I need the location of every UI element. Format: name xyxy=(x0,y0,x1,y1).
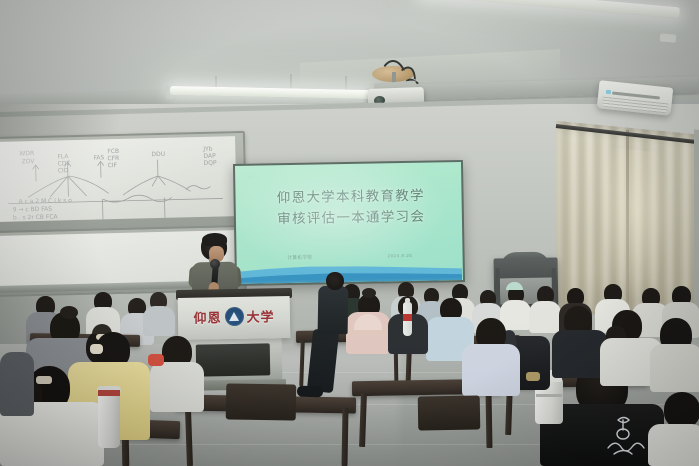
whiteboard-glare xyxy=(0,136,237,222)
curtain-seam xyxy=(626,130,629,316)
desk-leg xyxy=(486,392,493,448)
student-cap xyxy=(506,282,523,290)
chair-back xyxy=(418,395,481,430)
crest-glyph xyxy=(229,311,239,320)
podium-university-logo: 仰恩 大学 xyxy=(182,302,286,330)
podium-text-right: 大学 xyxy=(246,306,274,325)
hair-bun xyxy=(60,306,78,319)
slide-corner-mark: ·· xyxy=(248,174,255,179)
hair-bun xyxy=(362,288,376,298)
slide-subtitle-date: 2024.9.25 xyxy=(387,253,412,259)
curtain-daylight-glow xyxy=(600,147,670,304)
student-head xyxy=(664,392,699,428)
student-torso xyxy=(462,344,520,396)
desk-leg xyxy=(341,408,348,466)
standing-person-shoe xyxy=(297,386,323,398)
chair-back xyxy=(226,383,297,420)
tube-light-cap xyxy=(660,33,677,42)
bottle-cap xyxy=(405,298,410,303)
university-crest-icon xyxy=(224,306,243,325)
slide-subtitle-department: 计算机学院 xyxy=(287,255,312,261)
student-accessory xyxy=(148,354,164,366)
slide-title: 仰恩大学本科教育教学 审核评估一本通学习会 xyxy=(252,184,451,229)
backpack-logo-patch xyxy=(526,372,540,381)
student-torso xyxy=(529,301,561,333)
standing-person-torso xyxy=(318,286,349,335)
slide-title-line-2: 审核评估一本通学习会 xyxy=(252,205,450,229)
podium-text-left: 仰恩 xyxy=(193,307,221,326)
podium-control-panel xyxy=(196,343,271,376)
tumbler-band xyxy=(98,390,120,396)
air-conditioner-indicator xyxy=(606,90,611,95)
standing-person-head xyxy=(326,272,344,290)
classroom-photo: ZOV FLACDTCID FAS FCBCFRCIF DDU JYbDAPDQ… xyxy=(0,0,699,466)
insulated-tumbler-cup xyxy=(98,390,120,448)
student-torso xyxy=(143,306,175,336)
student-torso xyxy=(650,344,699,392)
hair-clip xyxy=(90,344,103,354)
bottle-label xyxy=(403,314,412,321)
student-torso xyxy=(0,352,34,416)
hair-tie xyxy=(36,376,52,384)
thermos-band xyxy=(536,394,562,397)
student-torso-white xyxy=(648,424,699,466)
student-torso xyxy=(150,362,204,412)
presenter-hair xyxy=(202,233,227,247)
student-torso xyxy=(500,300,531,330)
